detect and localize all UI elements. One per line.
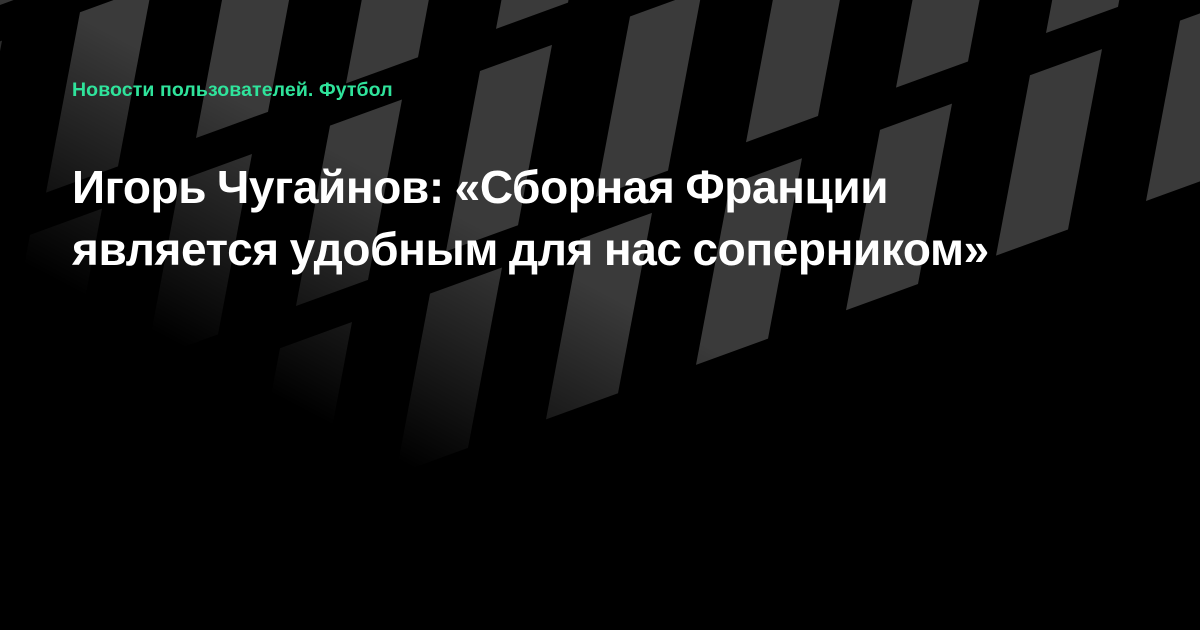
kicker-category-label[interactable]: Новости пользователей. Футбол	[72, 80, 393, 100]
page-title: Игорь Чугайнов: «Сборная Франции являетс…	[72, 156, 1092, 280]
news-share-card: Новости пользователей. Футбол Игорь Чуга…	[0, 0, 1200, 630]
text-block: Новости пользователей. Футбол Игорь Чуга…	[72, 0, 1102, 630]
